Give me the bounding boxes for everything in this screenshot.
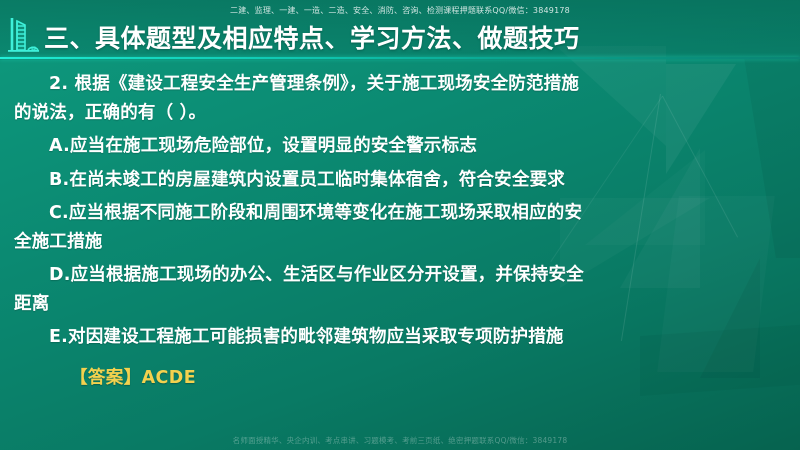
watermark-bottom: 名师面授精华、央企内训、考点串讲、习题模考、考前三页纸、绝密押题联系QQ/微信：… [0, 435, 800, 446]
answer-label: 【答案】 [70, 368, 142, 388]
answer-line: 【答案】ACDE [14, 364, 786, 389]
page-title: 三、具体题型及相应特点、学习方法、做题技巧 [44, 19, 580, 55]
option-c: C.应当根据不同施工阶段和周围环境等变化在施工现场采取相应的安全施工措施 [14, 199, 589, 256]
building-tower-icon [6, 12, 40, 56]
title-row: 三、具体题型及相应特点、学习方法、做题技巧 [6, 14, 580, 56]
question-stem: 2. 根据《建设工程安全生产管理条例》，关于施工现场安全防范措施的说法，正确的有… [14, 70, 589, 127]
answer-value: ACDE [142, 368, 196, 388]
slide-content: 2. 根据《建设工程安全生产管理条例》，关于施工现场安全防范措施的说法，正确的有… [0, 70, 800, 389]
option-b: B.在尚未竣工的房屋建筑内设置员工临时集体宿舍，符合安全要求 [14, 166, 589, 195]
header-accent-line [0, 57, 800, 59]
option-a: A.应当在施工现场危险部位，设置明显的安全警示标志 [14, 132, 589, 161]
slide-root: 二建、监理、一建、一造、二造、安全、消防、咨询、检测课程押题联系QQ/微信：38… [0, 0, 800, 450]
option-e: E.对因建设工程施工可能损害的毗邻建筑物应当采取专项防护措施 [14, 323, 589, 352]
option-d: D.应当根据施工现场的办公、生活区与作业区分开设置，并保持安全距离 [14, 261, 589, 318]
slide-header: 二建、监理、一建、一造、二造、安全、消防、咨询、检测课程押题联系QQ/微信：38… [0, 0, 800, 60]
